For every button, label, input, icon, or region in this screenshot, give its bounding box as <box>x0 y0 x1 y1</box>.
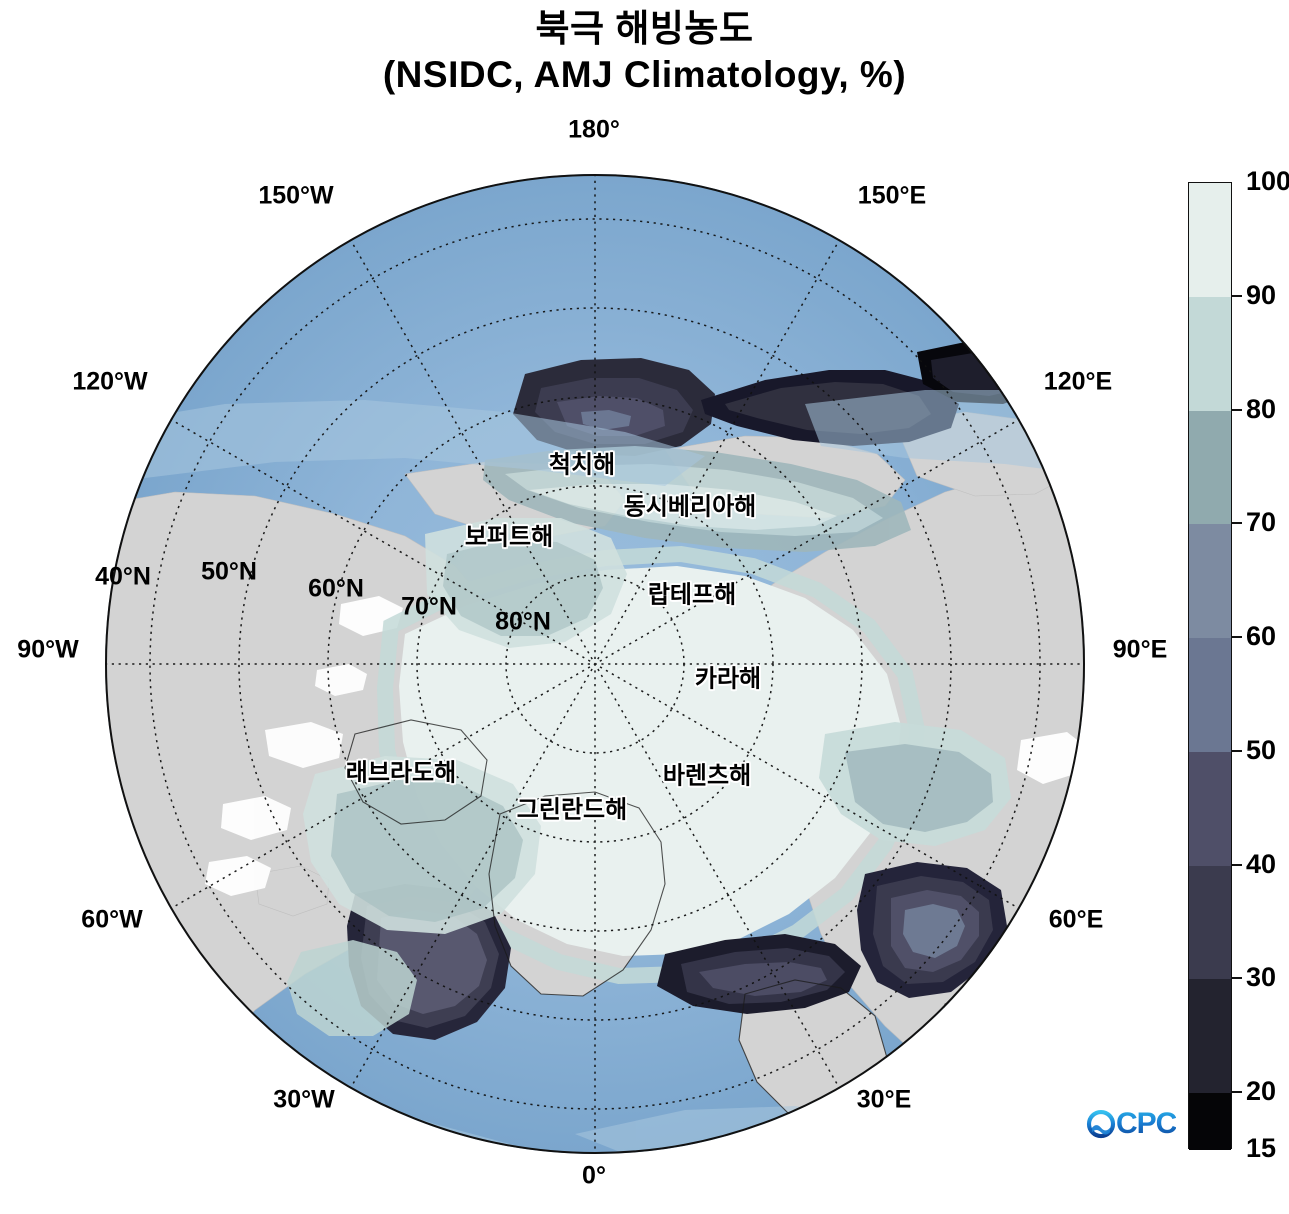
colorbar-tick-label-70: 70 <box>1246 509 1276 536</box>
lat-40n-label: 40°N <box>95 563 151 592</box>
polar-map[interactable] <box>105 174 1085 1154</box>
noaa-globe-icon <box>1086 1109 1116 1139</box>
lat-70n-label: 70°N <box>401 593 457 622</box>
colorbar-segment-15-20 <box>1189 1093 1231 1150</box>
colorbar-segment-50-60 <box>1189 638 1231 752</box>
colorbar-tick-label-50: 50 <box>1246 737 1276 764</box>
colorbar-segment-20-30 <box>1189 979 1231 1093</box>
colorbar-tick-label-90: 90 <box>1246 282 1276 309</box>
sea-chukchi-label: 척치해 <box>549 445 615 480</box>
colorbar-segment-70-80 <box>1189 411 1231 525</box>
lon-150e-label: 150°E <box>858 182 926 211</box>
cpc-logo-text: CPC <box>1116 1107 1176 1141</box>
title-line-1: 북극 해빙농도 <box>0 6 1289 52</box>
colorbar-tick-label-40: 40 <box>1246 851 1276 878</box>
lon-120e-label: 120°E <box>1044 368 1112 397</box>
colorbar-tick-90 <box>1232 295 1242 297</box>
sea-east-siberian-label: 동시베리아해 <box>624 487 756 522</box>
lon-60w-label: 60°W <box>81 906 142 935</box>
lon-60e-label: 60°E <box>1049 906 1103 935</box>
lon-0-label: 0° <box>582 1162 606 1191</box>
lon-90w-label: 90°W <box>17 636 78 665</box>
lat-80n-label: 80°N <box>495 608 551 637</box>
colorbar-tick-label-20: 20 <box>1246 1078 1276 1105</box>
colorbar-tick-label-30: 30 <box>1246 964 1276 991</box>
page-title: 북극 해빙농도 (NSIDC, AMJ Climatology, %) <box>0 6 1289 98</box>
colorbar-tick-60 <box>1232 636 1242 638</box>
colorbar-tick-label-100: 100 <box>1246 168 1289 195</box>
colorbar-tick-40 <box>1232 864 1242 866</box>
colorbar-segment-40-50 <box>1189 752 1231 866</box>
sea-greenland-label: 그린란드해 <box>517 790 627 825</box>
colorbar-segment-60-70 <box>1189 524 1231 638</box>
sea-beaufort-label: 보퍼트해 <box>465 517 553 552</box>
colorbar-tick-label-60: 60 <box>1246 623 1276 650</box>
lon-120w-label: 120°W <box>72 368 147 397</box>
colorbar[interactable]: 152030405060708090100 <box>1188 182 1232 1149</box>
colorbar-tick-70 <box>1232 522 1242 524</box>
colorbar-tick-label-80: 80 <box>1246 396 1276 423</box>
colorbar-tick-30 <box>1232 977 1242 979</box>
colorbar-tick-label-15: 15 <box>1246 1135 1276 1162</box>
colorbar-tick-50 <box>1232 750 1242 752</box>
colorbar-segment-90-100 <box>1189 183 1231 297</box>
cpc-logo: CPC <box>1086 1104 1176 1144</box>
title-line-2: (NSIDC, AMJ Climatology, %) <box>0 52 1289 98</box>
colorbar-tick-80 <box>1232 409 1242 411</box>
sea-kara-label: 카라해 <box>695 659 761 694</box>
sea-labrador-label: 래브라도해 <box>346 753 456 788</box>
colorbar-gradient <box>1188 182 1232 1149</box>
lon-180-label: 180° <box>568 116 620 145</box>
lat-50n-label: 50°N <box>201 558 257 587</box>
lon-150w-label: 150°W <box>258 182 333 211</box>
colorbar-tick-20 <box>1232 1091 1242 1093</box>
lon-30w-label: 30°W <box>273 1086 334 1115</box>
colorbar-segment-30-40 <box>1189 866 1231 980</box>
colorbar-segment-80-90 <box>1189 297 1231 411</box>
lat-60n-label: 60°N <box>308 575 364 604</box>
sea-laptev-label: 랍테프해 <box>648 575 736 610</box>
lon-90e-label: 90°E <box>1113 636 1167 665</box>
lon-30e-label: 30°E <box>857 1086 911 1115</box>
map-clip-region <box>105 174 1085 1154</box>
sea-ice-concentration-raster <box>105 174 1085 1154</box>
sea-barents-label: 바렌츠해 <box>663 756 751 791</box>
